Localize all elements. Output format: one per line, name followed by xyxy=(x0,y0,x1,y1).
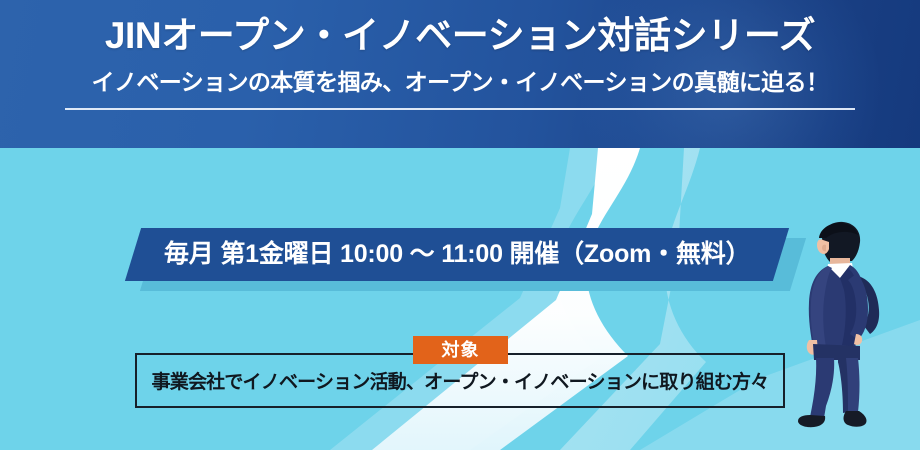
header-divider xyxy=(65,108,855,110)
page-subtitle: イノベーションの本質を掴み、オープン・イノベーションの真髄に迫る！ xyxy=(92,70,829,95)
target-badge-label: 対象 xyxy=(442,341,480,359)
businessman-illustration xyxy=(786,218,906,433)
event-banner: JINオープン・イノベーション対話シリーズ イノベーションの本質を掴み、オープン… xyxy=(0,0,920,450)
schedule-bar: 毎月 第1金曜日 10:00 ～ 11:00 開催（Zoom・無料） xyxy=(125,228,789,281)
page-title: JINオープン・イノベーション対話シリーズ xyxy=(105,17,815,56)
target-audience-text: 事業会社でイノベーション活動、オープン・イノベーションに取り組む方々 xyxy=(152,367,769,394)
schedule-text: 毎月 第1金曜日 10:00 ～ 11:00 開催（Zoom・無料） xyxy=(164,242,750,267)
target-badge: 対象 xyxy=(413,336,508,364)
banner-header: JINオープン・イノベーション対話シリーズ イノベーションの本質を掴み、オープン… xyxy=(0,0,920,148)
